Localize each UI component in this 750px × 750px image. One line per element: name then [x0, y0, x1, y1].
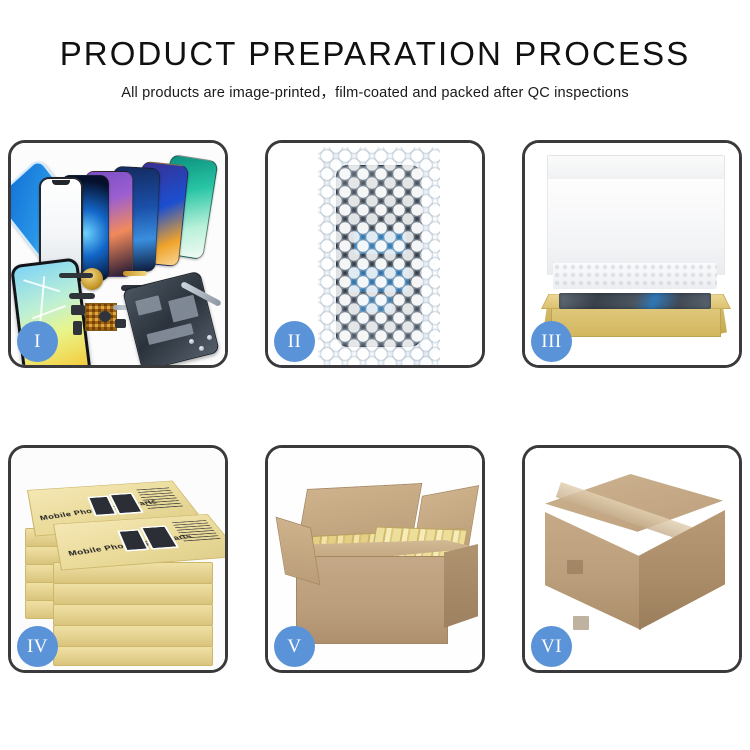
- process-step-card-4[interactable]: Mobile Phone Spare Parts Mobile Phone Sp…: [8, 445, 228, 673]
- stacked-box-r3: [53, 604, 213, 626]
- sealed-carton: [539, 474, 731, 650]
- stacked-box-r4: [53, 625, 213, 647]
- sim-tray-part-icon: [115, 319, 126, 328]
- copper-coil-icon: [81, 268, 103, 290]
- gold-flex-part-icon: [123, 271, 147, 276]
- camera-flex-part-icon: [69, 293, 95, 299]
- page-header: PRODUCT PREPARATION PROCESS All products…: [0, 0, 750, 103]
- process-steps-grid: I II: [8, 140, 742, 675]
- speaker-part-icon: [99, 311, 111, 322]
- connector-part-icon: [73, 321, 82, 335]
- foam-backing-icon: [547, 179, 725, 275]
- stacked-box-r5: [53, 646, 213, 666]
- carton-front-face: [296, 556, 448, 644]
- process-step-card-5[interactable]: V: [265, 445, 485, 673]
- step-badge-3: III: [531, 321, 572, 362]
- step-badge-6: VI: [531, 626, 572, 667]
- carton-front-face-sealed: [545, 512, 641, 630]
- step-badge-4: IV: [17, 626, 58, 667]
- page-subtitle: All products are image-printed，film-coat…: [0, 74, 750, 103]
- step-badge-2: II: [274, 321, 315, 362]
- carton-side-face: [444, 544, 478, 628]
- process-step-card-1[interactable]: I: [8, 140, 228, 368]
- kraft-box-icon: [545, 283, 725, 333]
- process-step-card-2[interactable]: II: [265, 140, 485, 368]
- bubble-wrap-texture-icon: [318, 147, 440, 365]
- process-step-card-3[interactable]: III: [522, 140, 742, 368]
- carton-handle-notch-top: [567, 560, 583, 574]
- stacked-box-r2: [53, 583, 213, 605]
- step-badge-1: I: [17, 321, 58, 362]
- carton-handle-notch-bottom: [573, 616, 589, 630]
- ic-chip-part-icon: [71, 305, 85, 315]
- flex-cable-part-icon: [59, 273, 93, 278]
- process-step-card-6[interactable]: VI: [522, 445, 742, 673]
- page-title: PRODUCT PREPARATION PROCESS: [0, 0, 750, 74]
- step-badge-5: V: [274, 626, 315, 667]
- boxed-screen-contents-icon: [559, 293, 711, 309]
